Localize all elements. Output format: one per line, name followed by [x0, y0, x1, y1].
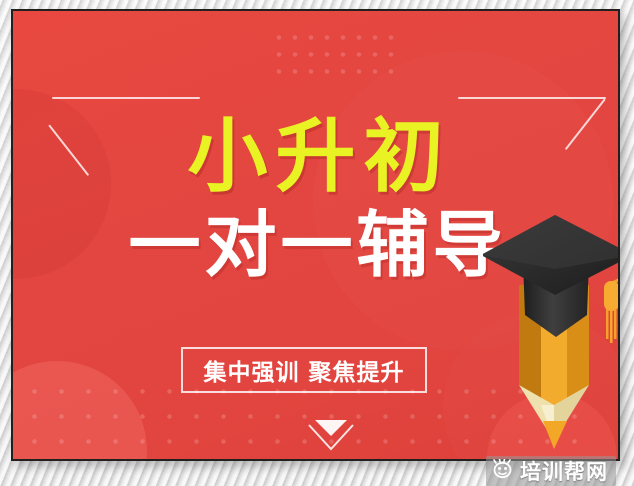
subtitle-text: 集中强训 聚焦提升 [203, 353, 404, 387]
watermark-text: 培训帮网 [520, 456, 608, 486]
watermark: 培训帮网 [486, 456, 616, 486]
scroll-down-arrow-icon [302, 415, 360, 455]
subtitle-box: 集中强训 聚焦提升 [181, 347, 427, 393]
corner-bracket-left-icon [48, 97, 198, 157]
screenshot-root: 小升初 一对一辅导 集中强训 聚焦提升 [0, 0, 634, 486]
dot-grid-top-icon [271, 29, 395, 81]
smiley-face-icon [492, 459, 514, 484]
poster-card: 小升初 一对一辅导 集中强训 聚焦提升 [11, 9, 620, 461]
pencil-with-graduation-cap-icon [483, 209, 620, 449]
corner-bracket-right-icon [458, 97, 610, 157]
